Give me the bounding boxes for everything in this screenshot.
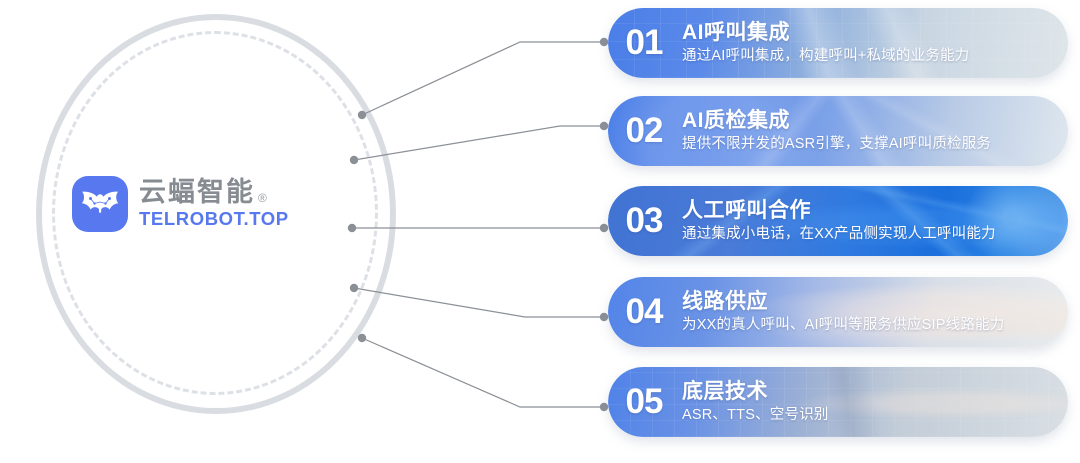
- item-text: 线路供应 为XX的真人呼叫、AI呼叫等服务供应SIP线路能力: [680, 290, 1004, 334]
- list-item[interactable]: 01 AI呼叫集成 通过AI呼叫集成，构建呼叫+私域的业务能力: [608, 8, 1068, 78]
- item-number: 04: [608, 292, 680, 332]
- list-item[interactable]: 03 人工呼叫合作 通过集成小电话，在XX产品侧实现人工呼叫能力: [608, 186, 1068, 256]
- list-item[interactable]: 05 底层技术 ASR、TTS、空号识别: [608, 367, 1068, 437]
- infographic-canvas: 云蝠智能® TELROBOT.TOP 01: [0, 0, 1080, 463]
- item-title: 人工呼叫合作: [682, 199, 996, 223]
- item-subtitle: 为XX的真人呼叫、AI呼叫等服务供应SIP线路能力: [682, 317, 1004, 334]
- brand-name-cn-row: 云蝠智能®: [139, 179, 289, 206]
- item-subtitle: 通过集成小电话，在XX产品侧实现人工呼叫能力: [682, 226, 996, 243]
- item-title: 线路供应: [682, 290, 1004, 314]
- item-text: AI呼叫集成 通过AI呼叫集成，构建呼叫+私域的业务能力: [680, 21, 969, 65]
- brand-wordmark: 云蝠智能® TELROBOT.TOP: [139, 179, 289, 229]
- item-title: AI呼叫集成: [682, 21, 969, 45]
- item-number: 02: [608, 111, 680, 151]
- brand-name-en: TELROBOT.TOP: [139, 210, 289, 229]
- item-number: 03: [608, 201, 680, 241]
- item-text: 人工呼叫合作 通过集成小电话，在XX产品侧实现人工呼叫能力: [680, 199, 996, 243]
- item-title: AI质检集成: [682, 109, 991, 133]
- item-number: 05: [608, 382, 680, 422]
- bat-icon: [72, 176, 128, 232]
- item-text: AI质检集成 提供不限并发的ASR引擎，支撑AI呼叫质检服务: [680, 109, 991, 153]
- item-title: 底层技术: [682, 380, 829, 404]
- item-subtitle: 提供不限并发的ASR引擎，支撑AI呼叫质检服务: [682, 136, 991, 153]
- item-number: 01: [608, 23, 680, 63]
- list-item[interactable]: 02 AI质检集成 提供不限并发的ASR引擎，支撑AI呼叫质检服务: [608, 96, 1068, 166]
- list-item[interactable]: 04 线路供应 为XX的真人呼叫、AI呼叫等服务供应SIP线路能力: [608, 277, 1068, 347]
- brand-name-cn: 云蝠智能: [139, 179, 255, 206]
- item-subtitle: 通过AI呼叫集成，构建呼叫+私域的业务能力: [682, 48, 969, 65]
- item-text: 底层技术 ASR、TTS、空号识别: [680, 380, 829, 424]
- brand-logo: 云蝠智能® TELROBOT.TOP: [72, 176, 289, 232]
- registered-mark: ®: [258, 192, 269, 204]
- item-subtitle: ASR、TTS、空号识别: [682, 407, 829, 424]
